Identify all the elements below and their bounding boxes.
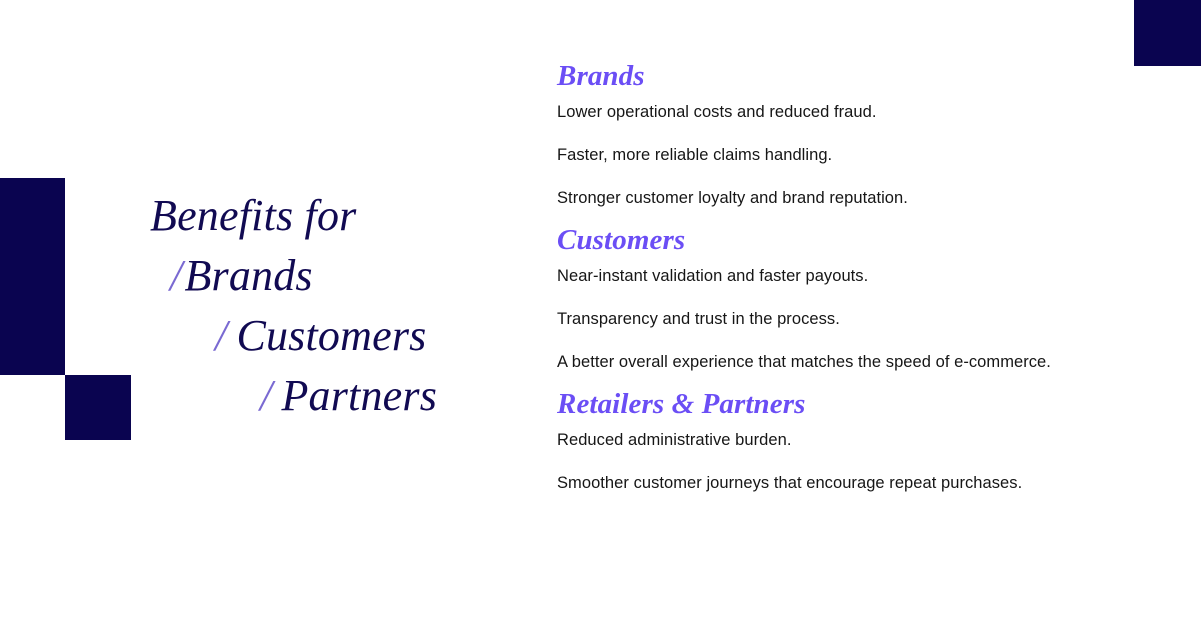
- slide-canvas: Benefits for /Brands /Customers /Partner…: [0, 0, 1201, 621]
- section-heading-retailers-partners: Retailers & Partners: [557, 386, 1157, 422]
- title-slash-3: /: [215, 311, 236, 360]
- section-brands: Brands Lower operational costs and reduc…: [557, 58, 1157, 209]
- title-slash-2: /: [170, 251, 184, 300]
- title-text-3: Customers: [236, 311, 426, 360]
- section-heading-customers: Customers: [557, 222, 1157, 258]
- title-line-3: /Customers: [110, 306, 450, 366]
- benefit-item: Stronger customer loyalty and brand repu…: [557, 187, 1157, 209]
- title-slash-4: /: [260, 371, 281, 420]
- decorative-tall-rectangle-left: [0, 178, 65, 375]
- title-line-2: /Brands: [110, 246, 450, 306]
- title-text-1: Benefits for: [150, 191, 356, 240]
- benefit-item: Near-instant validation and faster payou…: [557, 265, 1157, 287]
- benefit-item: Faster, more reliable claims handling.: [557, 144, 1157, 166]
- title-text-2: Brands: [184, 251, 312, 300]
- benefit-item: Lower operational costs and reduced frau…: [557, 101, 1157, 123]
- benefit-item: Smoother customer journeys that encourag…: [557, 472, 1157, 494]
- slide-title: Benefits for /Brands /Customers /Partner…: [110, 186, 450, 426]
- section-retailers-partners: Retailers & Partners Reduced administrat…: [557, 386, 1157, 494]
- benefit-item: A better overall experience that matches…: [557, 351, 1157, 373]
- benefit-item: Reduced administrative burden.: [557, 429, 1157, 451]
- title-text-4: Partners: [281, 371, 437, 420]
- benefit-item: Transparency and trust in the process.: [557, 308, 1157, 330]
- title-line-1: Benefits for: [110, 186, 450, 246]
- title-line-4: /Partners: [110, 366, 450, 426]
- decorative-square-top-right: [1134, 0, 1201, 66]
- section-customers: Customers Near-instant validation and fa…: [557, 222, 1157, 373]
- benefits-content-column: Brands Lower operational costs and reduc…: [557, 58, 1157, 494]
- section-heading-brands: Brands: [557, 58, 1157, 94]
